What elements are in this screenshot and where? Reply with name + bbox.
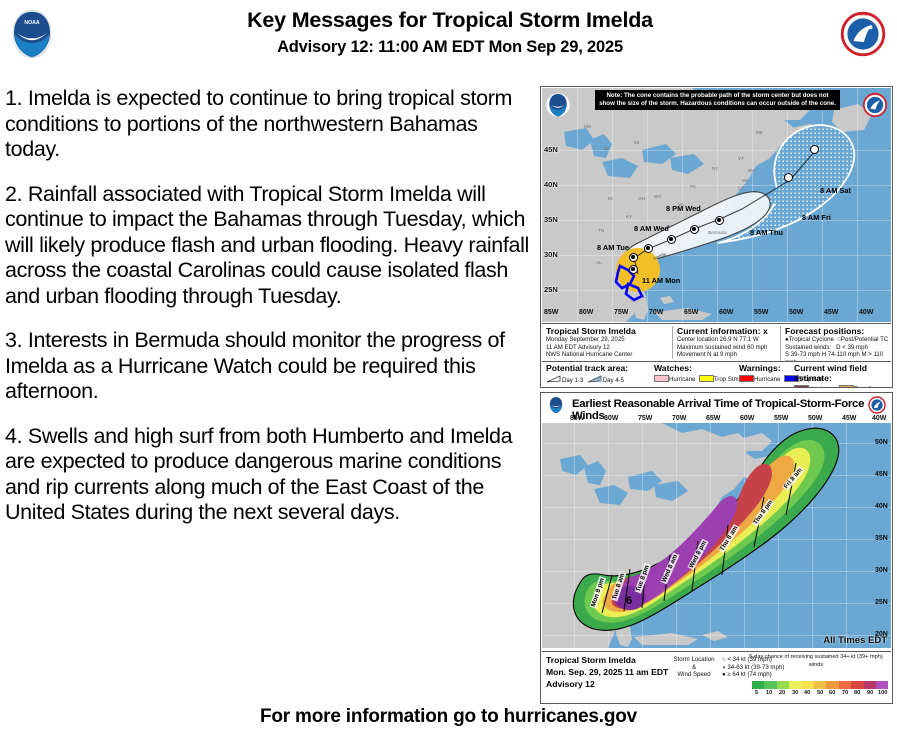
arrival-time-map-panel[interactable]: Earliest Reasonable Arrival Time of Trop… [540, 392, 893, 704]
watch-hurricane-label: Hurricane [669, 376, 695, 383]
lon-label: 85W [544, 309, 558, 316]
footer-info: For more information go to hurricanes.go… [0, 706, 897, 728]
bermuda-label: Bermuda [708, 230, 727, 235]
current-info-heading: Current information: [677, 326, 761, 336]
probability-colorbar [752, 681, 893, 689]
lon-label: 70W [649, 309, 663, 316]
arrival-lat-axis: 50N 45N 40N 35N 30N 25N 20N [873, 423, 891, 648]
key-message-3: 3. Interests in Bermuda should monitor t… [5, 328, 530, 405]
colorbar-tick: 10 [766, 690, 772, 696]
track-position-tue[interactable] [629, 253, 638, 262]
lon-label: 80W [579, 309, 593, 316]
day1-3-label: Day 1-3 [562, 377, 583, 384]
key-message-4: 4. Swells and high surf from both Humber… [5, 424, 530, 526]
lat-label: 50N [875, 439, 888, 446]
lon-label: 40W [859, 309, 873, 316]
colorbar-tick: 50 [817, 690, 823, 696]
lon-label: 45W [824, 309, 838, 316]
lat-label: 30N [875, 567, 888, 574]
lat-label: 45N [875, 471, 888, 478]
watch-tropstm-label: Trop Stm [714, 376, 739, 383]
center-location: Center location 26.9 N 77.1 W [677, 336, 777, 344]
key-messages-list: 1. Imelda is expected to continue to bri… [5, 86, 530, 545]
colorbar-tick: 100 [878, 690, 887, 696]
arrival-map-header: Earliest Reasonable Arrival Time of Trop… [542, 394, 891, 416]
lon-label: 40W [872, 415, 886, 422]
svg-text:Imelda: Imelda [653, 251, 668, 261]
colorbar-tick: 60 [829, 690, 835, 696]
lat-label: 25N [544, 285, 558, 294]
lon-label: 50W [808, 415, 822, 422]
lat-label: 30N [544, 250, 558, 259]
storm-movement: Movement N at 9 mph [677, 351, 777, 359]
colorbar-tick: 40 [804, 690, 810, 696]
colorbar-tick: 5 [755, 690, 758, 696]
forecast-track-line: Imelda [542, 88, 891, 322]
cone-info-legend: Tropical Storm Imelda Monday September 2… [542, 323, 891, 361]
advisory-number: 11 AM EDT Advisory 12 [546, 344, 664, 352]
track-label-sat: 8 AM Sat [820, 186, 851, 195]
lon-label: 55W [754, 309, 768, 316]
lon-label: 65W [706, 415, 720, 422]
track-position-current[interactable] [629, 265, 638, 274]
wind-class-s: S 39-73 mph [785, 351, 820, 358]
windfield-hurricane-swatch [794, 385, 809, 388]
storm-location-label-2: & [666, 664, 722, 672]
noaa-logo [545, 91, 571, 119]
track-label-fri: 8 AM Fri [802, 213, 831, 222]
day1-3-cone-icon [546, 375, 562, 383]
wind-class-d: D < 39 mph [836, 344, 868, 351]
wind-class-h: H 74-110 mph [822, 351, 860, 358]
storm-location-label-3: Wind Speed [666, 671, 722, 679]
max-sustained-wind: Maximum sustained wind 60 mph [677, 344, 777, 352]
lat-label: 35N [544, 215, 558, 224]
wind-field-heading: Current wind field estimate: [794, 363, 891, 383]
track-position-thu-pm[interactable] [715, 216, 724, 225]
storm-location-label-1: Storm Location [666, 656, 722, 664]
arrival-map-canvas[interactable]: 6 Mon 8 pm Tue 8 am Tue 8 pm Wed 8 am We… [542, 423, 891, 648]
lon-label: 45W [842, 415, 856, 422]
potential-track-heading: Potential track area: [546, 363, 628, 373]
watch-hurricane-swatch [654, 375, 669, 382]
nws-logo [862, 91, 888, 119]
lon-label: 70W [672, 415, 686, 422]
windfield-tropstm-label: Trop Stm [854, 386, 879, 388]
forecast-cone-map-panel[interactable]: MN WI MI ME NY VT NH MA CT PA OH IN KY T… [540, 86, 893, 388]
forecast-positions-heading: Forecast positions: [785, 326, 893, 336]
colorbar-tick: 90 [867, 690, 873, 696]
lat-label: 40N [875, 503, 888, 510]
advisory-date: Mon. Sep. 29, 2025 11 am EDT [546, 667, 668, 677]
lon-label: 85W [570, 415, 584, 422]
arrival-legend: Tropical Storm Imelda Mon. Sep. 29, 2025… [542, 651, 891, 703]
track-label-tue: 8 AM Tue [597, 243, 629, 252]
noaa-logo [545, 395, 567, 415]
key-message-1: 1. Imelda is expected to continue to bri… [5, 86, 530, 163]
track-position-sat[interactable] [810, 145, 819, 154]
cone-lon-axis: 85W 80W 75W 70W 65W 60W 55W 50W 45W 40W [542, 309, 891, 321]
tropical-cyclone-label: Tropical Cyclone [789, 336, 834, 343]
header: NOAA Key Messages for Tropical Storm Ime… [0, 0, 897, 72]
sustained-winds-label: Sustained winds: [785, 344, 831, 351]
page-subtitle: Advisory 12: 11:00 AM EDT Mon Sep 29, 20… [120, 38, 780, 57]
warn-hurricane-label: Hurricane [754, 376, 780, 383]
track-label-wed-pm: 8 PM Wed [666, 204, 701, 213]
key-message-2: 2. Rainfall associated with Tropical Sto… [5, 182, 530, 310]
advisory-date: Monday September 29, 2025 [546, 336, 664, 344]
post-potential-tc-label: Post/Potential TC [841, 336, 888, 343]
hurricane-symbol-icon: ● [722, 671, 726, 678]
td-symbol-icon: ○ [722, 656, 726, 663]
svg-text:NWS: NWS [859, 13, 868, 17]
ts-symbol-icon: ◖ [722, 664, 726, 671]
probability-colorbar-title: 5-day chance of receiving sustained 34+ … [742, 654, 890, 669]
lat-label: 45N [544, 145, 558, 154]
colorbar-ticks: 5 10 20 30 40 50 60 70 80 90 100 % [752, 690, 893, 699]
day4-5-cone-icon [587, 375, 603, 383]
nws-logo: NWS [839, 8, 887, 60]
colorbar-tick: 20 [779, 690, 785, 696]
track-position-fri[interactable] [784, 173, 793, 182]
lon-label: 65W [684, 309, 698, 316]
watch-tropstm-swatch [699, 375, 714, 382]
cone-note: Note: The cone contains the probable pat… [595, 90, 840, 110]
lon-label: 75W [638, 415, 652, 422]
windfield-tropstm-swatch [839, 385, 854, 388]
cone-symbol-legend: Potential track area: Day 1-3 Day 4-5 Wa… [542, 361, 891, 387]
current-position-icon: x [763, 326, 768, 336]
lon-label: 60W [719, 309, 733, 316]
lon-label: 60W [740, 415, 754, 422]
advisory-number: Advisory 12 [546, 679, 668, 689]
lon-label: 50W [789, 309, 803, 316]
track-position-wed-pm[interactable] [667, 235, 676, 244]
lat-label: 35N [875, 535, 888, 542]
colorbar-tick: 70 [842, 690, 848, 696]
cone-map-canvas[interactable]: MN WI MI ME NY VT NH MA CT PA OH IN KY T… [542, 88, 891, 322]
nws-logo [866, 395, 888, 415]
track-label-mon: 11 AM Mon [642, 276, 680, 285]
colorbar-tick: 30 [792, 690, 798, 696]
watches-heading: Watches: [654, 363, 739, 373]
storm-name: Tropical Storm Imelda [546, 326, 664, 336]
noaa-logo: NOAA [8, 8, 56, 60]
warn-hurricane-swatch [739, 375, 754, 382]
windfield-hurricane-label: Hurricane [809, 386, 835, 388]
wind-probability-contours: 6 [542, 423, 891, 648]
svg-text:NOAA: NOAA [24, 20, 40, 26]
track-position-thu-am[interactable] [690, 225, 699, 234]
lon-label: 75W [614, 309, 628, 316]
lon-label: 55W [774, 415, 788, 422]
lon-label: 80W [604, 415, 618, 422]
track-label-wed-am: 8 AM Wed [634, 224, 669, 233]
storm-name: Tropical Storm Imelda [546, 655, 668, 665]
track-position-wed-am[interactable] [644, 244, 653, 253]
key-messages-graphic: NOAA Key Messages for Tropical Storm Ime… [0, 0, 897, 736]
page-title: Key Messages for Tropical Storm Imelda [120, 8, 780, 33]
lat-label: 20N [875, 631, 888, 638]
svg-text:6: 6 [626, 595, 632, 607]
track-label-thu: 8 AM Thu [750, 228, 783, 237]
colorbar-tick: 80 [854, 690, 860, 696]
issuing-agency: NWS National Hurricane Center [546, 351, 664, 359]
lat-label: 25N [875, 599, 888, 606]
day4-5-label: Day 4-5 [603, 377, 624, 384]
colorbar-unit: % [892, 690, 893, 696]
lat-label: 40N [544, 180, 558, 189]
